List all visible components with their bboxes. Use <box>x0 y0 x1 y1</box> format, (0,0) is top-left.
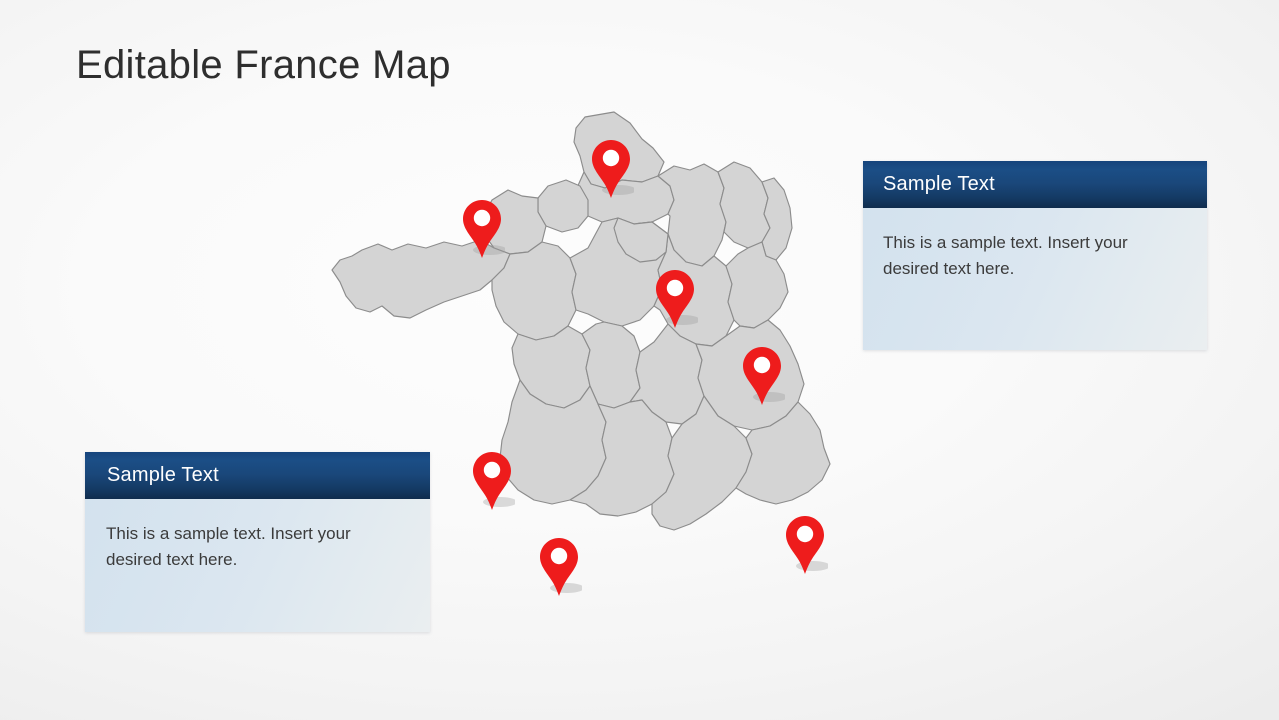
region-alsace[interactable] <box>762 178 792 260</box>
map-pin-1[interactable] <box>588 138 634 200</box>
map-pin-6[interactable] <box>536 536 582 598</box>
callout-left-header-text: Sample Text <box>107 464 219 487</box>
callout-left-header[interactable]: Sample Text <box>85 452 430 499</box>
map-pin-2[interactable] <box>459 198 505 260</box>
callout-right[interactable]: Sample Text This is a sample text. Inser… <box>863 161 1207 350</box>
callout-left[interactable]: Sample Text This is a sample text. Inser… <box>85 452 430 632</box>
callout-right-header[interactable]: Sample Text <box>863 161 1207 208</box>
callout-right-header-text: Sample Text <box>883 173 995 196</box>
callout-left-body[interactable]: This is a sample text. Insert your desir… <box>85 499 430 632</box>
callout-right-body[interactable]: This is a sample text. Insert your desir… <box>863 208 1207 350</box>
page-title: Editable France Map <box>76 42 451 88</box>
map-pin-7[interactable] <box>782 514 828 576</box>
map-pin-4[interactable] <box>739 345 785 407</box>
map-pin-3[interactable] <box>652 268 698 330</box>
slide-canvas: Editable France Map <box>0 0 1279 720</box>
callout-left-body-text: This is a sample text. Insert your desir… <box>106 521 376 572</box>
map-pin-5[interactable] <box>469 450 515 512</box>
callout-right-body-text: This is a sample text. Insert your desir… <box>883 230 1153 281</box>
region-lorraine[interactable] <box>718 162 770 248</box>
